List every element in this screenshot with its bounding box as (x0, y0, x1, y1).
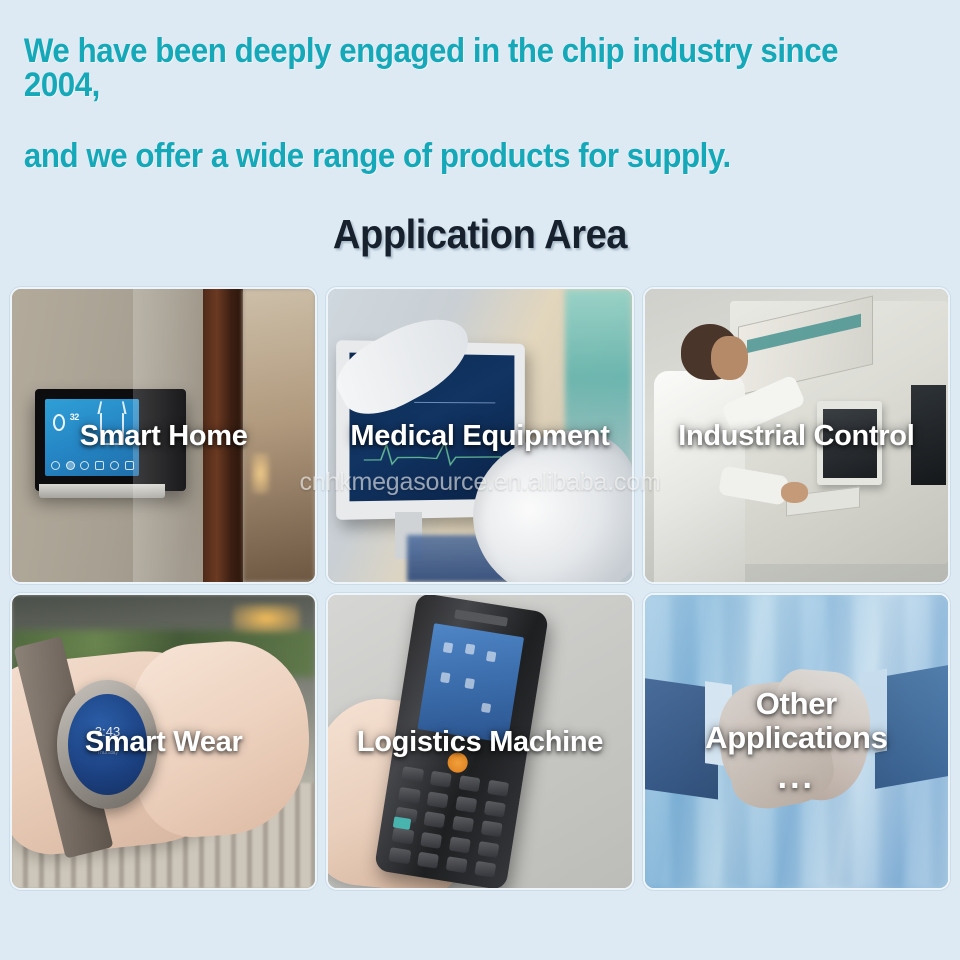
key[interactable] (449, 836, 471, 853)
headline-line-1: We have been deeply engaged in the chip … (0, 34, 883, 102)
app-icon-5 (110, 461, 119, 470)
background-lights (233, 604, 300, 633)
device-screen-icon-3 (486, 651, 496, 662)
key[interactable] (455, 796, 477, 813)
technician-face (711, 336, 747, 380)
device-screen-icon-6 (481, 702, 491, 713)
key[interactable] (481, 820, 503, 837)
monitor-divider-line (414, 402, 495, 403)
device-screen-icon-2 (465, 643, 475, 654)
panel-app-icons (51, 461, 134, 470)
key[interactable] (392, 827, 414, 844)
app-icon-4 (95, 461, 104, 470)
device-screen-icon-5 (465, 678, 475, 689)
card-label-smart-wear: Smart Wear (12, 725, 315, 757)
key[interactable] (446, 856, 468, 873)
card-industrial-control[interactable]: Industrial Control (643, 287, 950, 584)
page-title: Application Area (34, 211, 927, 258)
key[interactable] (452, 816, 474, 833)
application-area-grid: 32 Smart Home (10, 287, 950, 890)
headline-line-2: and we offer a wide range of products fo… (0, 139, 883, 173)
device-speaker (454, 610, 508, 627)
app-icon-6 (125, 461, 134, 470)
key[interactable] (487, 780, 509, 797)
app-icon-1 (51, 461, 60, 470)
page-header: We have been deeply engaged in the chip … (0, 0, 960, 258)
card-other-applications[interactable]: Other Applications ... (643, 593, 950, 890)
device-screen-icon-1 (443, 642, 453, 653)
key[interactable] (420, 832, 442, 849)
card-label-industrial-control: Industrial Control (645, 419, 948, 451)
technician-hand (781, 482, 808, 503)
card-label-smart-home: Smart Home (12, 419, 315, 451)
card-label-other-applications: Other Applications ... (645, 687, 948, 797)
key[interactable] (459, 775, 481, 792)
key[interactable] (424, 811, 446, 828)
card-label-line-2: Applications (705, 720, 887, 755)
card-smart-home[interactable]: 32 Smart Home (10, 287, 317, 584)
card-label-line-1: Other (756, 686, 837, 721)
card-smart-wear[interactable]: 3:43 Thursday Smart Wear (10, 593, 317, 890)
app-icon-3 (80, 461, 89, 470)
key[interactable] (474, 861, 496, 878)
key[interactable] (417, 852, 439, 869)
key[interactable] (402, 766, 424, 783)
app-icon-2 (66, 461, 75, 470)
card-logistics-machine[interactable]: Logistics Machine (326, 593, 633, 890)
key[interactable] (430, 771, 452, 788)
device-screen-icon-4 (440, 672, 450, 683)
room-light-glow (251, 453, 270, 494)
key[interactable] (389, 847, 411, 864)
key[interactable] (427, 791, 449, 808)
key[interactable] (477, 841, 499, 858)
card-label-logistics-machine: Logistics Machine (328, 725, 631, 757)
card-label-medical-equipment: Medical Equipment (328, 419, 631, 451)
key[interactable] (484, 800, 506, 817)
key[interactable] (398, 787, 420, 804)
card-medical-equipment[interactable]: 76 Medical Equipment (326, 287, 633, 584)
card-label-ellipsis: ... (651, 758, 942, 796)
